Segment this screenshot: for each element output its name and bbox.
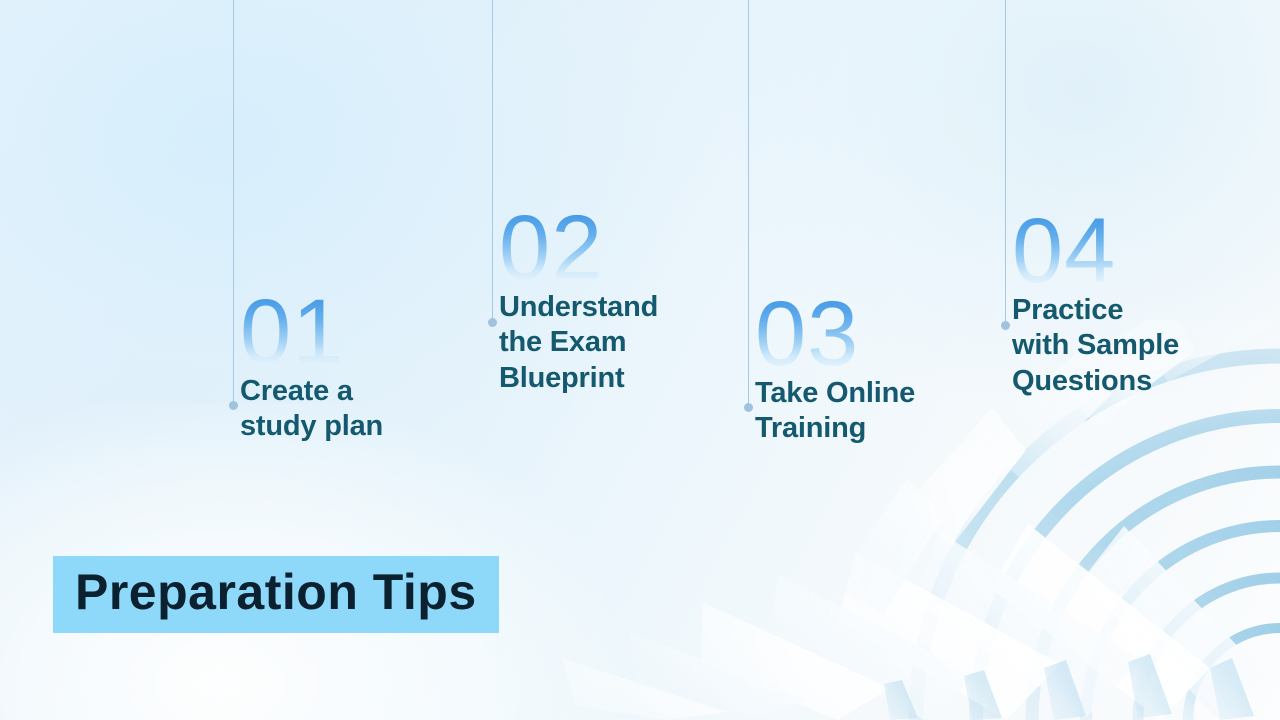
step-label-03-line1: Take Online	[755, 377, 915, 409]
step-label-03-line2: Training	[755, 412, 866, 444]
step-item-01: 01 Create a study plan	[240, 293, 490, 445]
connector-line-2	[492, 0, 493, 323]
page-title: Preparation Tips	[75, 562, 477, 623]
step-label-02-line1: Understand	[499, 291, 658, 323]
step-label-03: Take Online Training	[755, 376, 1005, 447]
connector-line-4	[1005, 0, 1006, 326]
step-label-04-line1: Practice	[1012, 294, 1123, 326]
step-label-01: Create a study plan	[240, 374, 490, 445]
step-item-03: 03 Take Online Training	[755, 295, 1005, 447]
connector-line-1	[233, 0, 234, 406]
step-number-04: 04	[1012, 212, 1262, 291]
step-item-02: 02 Understand the Exam Blueprint	[499, 209, 749, 396]
step-label-01-line1: Create a	[240, 375, 353, 407]
step-label-02: Understand the Exam Blueprint	[499, 290, 749, 396]
slide-canvas: 01 Create a study plan 02 Understand the…	[0, 0, 1280, 720]
step-label-02-line3: Blueprint	[499, 362, 624, 394]
step-item-04: 04 Practice with Sample Questions	[1012, 212, 1262, 399]
step-number-02: 02	[499, 209, 749, 288]
connector-dot-1	[229, 401, 238, 410]
step-number-03: 03	[755, 295, 1005, 374]
step-label-04-line2: with Sample	[1012, 329, 1179, 361]
title-banner: Preparation Tips	[53, 556, 499, 633]
step-label-04: Practice with Sample Questions	[1012, 293, 1262, 399]
step-label-01-line2: study plan	[240, 410, 383, 442]
step-label-04-line3: Questions	[1012, 365, 1152, 397]
step-label-02-line2: the Exam	[499, 326, 626, 358]
connector-dot-3	[744, 403, 753, 412]
step-number-01: 01	[240, 293, 490, 372]
